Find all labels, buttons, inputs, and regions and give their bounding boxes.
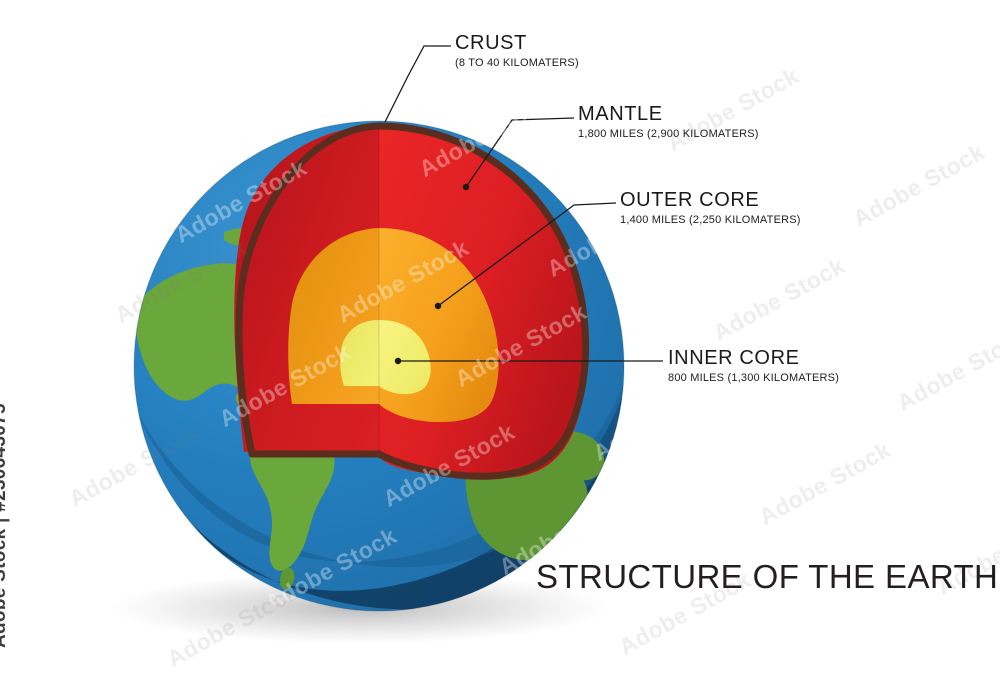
callout-crust: CRUST (8 TO 40 KILOMATERS)	[455, 33, 579, 70]
callout-inner-core-detail: 800 MILES (1,300 KILOMATERS)	[668, 372, 839, 385]
callout-mantle-detail: 1,800 MILES (2,900 KILOMATERS)	[578, 128, 759, 141]
callout-crust-title: CRUST	[455, 33, 579, 54]
watermark-credit-text: Adobe Stock | #230643075	[0, 403, 11, 648]
callout-inner-core: INNER CORE 800 MILES (1,300 KILOMATERS)	[668, 348, 839, 385]
leader-dot-outer-core	[435, 303, 441, 309]
callout-mantle: MANTLE 1,800 MILES (2,900 KILOMATERS)	[578, 104, 759, 141]
callout-outer-core: OUTER CORE 1,400 MILES (2,250 KILOMATERS…	[620, 190, 801, 227]
watermark-credit-strip: Adobe Stock | #230643075	[0, 0, 34, 662]
callout-outer-core-title: OUTER CORE	[620, 190, 801, 211]
leader-dot-inner-core	[395, 358, 401, 364]
page-title: STRUCTURE OF THE EARTH	[536, 558, 998, 596]
callout-crust-detail: (8 TO 40 KILOMATERS)	[455, 57, 579, 70]
callout-outer-core-detail: 1,400 MILES (2,250 KILOMATERS)	[620, 214, 801, 227]
callout-mantle-title: MANTLE	[578, 104, 759, 125]
illustration-canvas: Adobe Stock Adobe Stock Adobe Stock Adob…	[0, 0, 1000, 662]
callout-inner-core-title: INNER CORE	[668, 348, 839, 369]
leader-dot-mantle	[463, 184, 469, 190]
leader-crust	[385, 46, 451, 122]
